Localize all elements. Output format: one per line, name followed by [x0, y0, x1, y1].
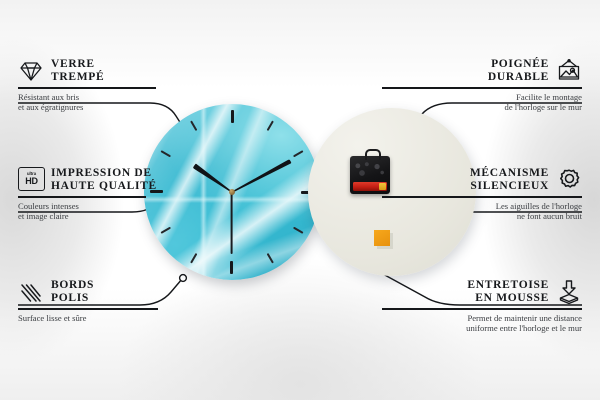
second-hand [231, 192, 233, 254]
diamond-icon [18, 58, 44, 84]
feature-subtitle: Résistant aux bris et aux égratignures [18, 92, 218, 113]
foam-spacer [374, 230, 390, 246]
feature-title: IMPRESSION DE HAUTE QUALITÉ [51, 167, 157, 193]
polished-edges-icon [18, 279, 44, 305]
feature-title: POIGNÉE DURABLE [488, 58, 549, 84]
ultra-hd-large-label: HD [25, 177, 37, 186]
feature-rule [382, 308, 582, 310]
feature-subtitle: Permet de maintenir une distance uniform… [382, 313, 582, 334]
feature-header: MÉCANISME SILENCIEUX [382, 167, 582, 193]
feature-header: POIGNÉE DURABLE [382, 58, 582, 84]
infographic-canvas: VERRE TREMPÉ Résistant aux bris et aux é… [0, 0, 600, 400]
feature-rule [382, 87, 582, 89]
ultra-hd-icon: ultra HD [18, 167, 44, 193]
feature-header: ultra HD IMPRESSION DE HAUTE QUALITÉ [18, 167, 218, 193]
feature-rule [18, 308, 158, 310]
feature-subtitle: Couleurs intenses et image claire [18, 201, 218, 222]
feature-header: VERRE TREMPÉ [18, 58, 218, 84]
feature-subtitle: Les aiguilles de l'horloge ne font aucun… [382, 201, 582, 222]
clock-center-cap [229, 189, 235, 195]
hour-tick [232, 191, 320, 193]
feature-entretoise-en-mousse: ENTRETOISE EN MOUSSE Permet de maintenir… [382, 279, 582, 334]
feature-poignee-durable: POIGNÉE DURABLE Facilite le montage de l… [382, 58, 582, 113]
hanger-loop-icon [365, 149, 381, 160]
feature-title: ENTRETOISE EN MOUSSE [467, 279, 549, 305]
feature-verre-trempe: VERRE TREMPÉ Résistant aux bris et aux é… [18, 58, 218, 113]
feature-mecanisme-silencieux: MÉCANISME SILENCIEUX Les aiguilles de l'… [382, 167, 582, 222]
feature-title: BORDS POLIS [51, 279, 94, 305]
feature-rule [18, 87, 156, 89]
feature-header: ENTRETOISE EN MOUSSE [382, 279, 582, 305]
feature-rule [18, 196, 146, 198]
feature-rule [382, 196, 582, 198]
feature-bords-polis: BORDS POLIS Surface lisse et sûre [18, 279, 218, 323]
feature-impression-haute-qualite: ultra HD IMPRESSION DE HAUTE QUALITÉ Cou… [18, 167, 218, 222]
foam-spacer-icon [556, 279, 582, 305]
feature-subtitle: Surface lisse et sûre [18, 313, 218, 324]
picture-hanger-icon [556, 58, 582, 84]
hour-tick [231, 104, 233, 192]
feature-title: VERRE TREMPÉ [51, 58, 104, 84]
feature-subtitle: Facilite le montage de l'horloge sur le … [382, 92, 582, 113]
feature-title: MÉCANISME SILENCIEUX [470, 167, 549, 193]
feature-header: BORDS POLIS [18, 279, 218, 305]
gear-icon [556, 167, 582, 193]
